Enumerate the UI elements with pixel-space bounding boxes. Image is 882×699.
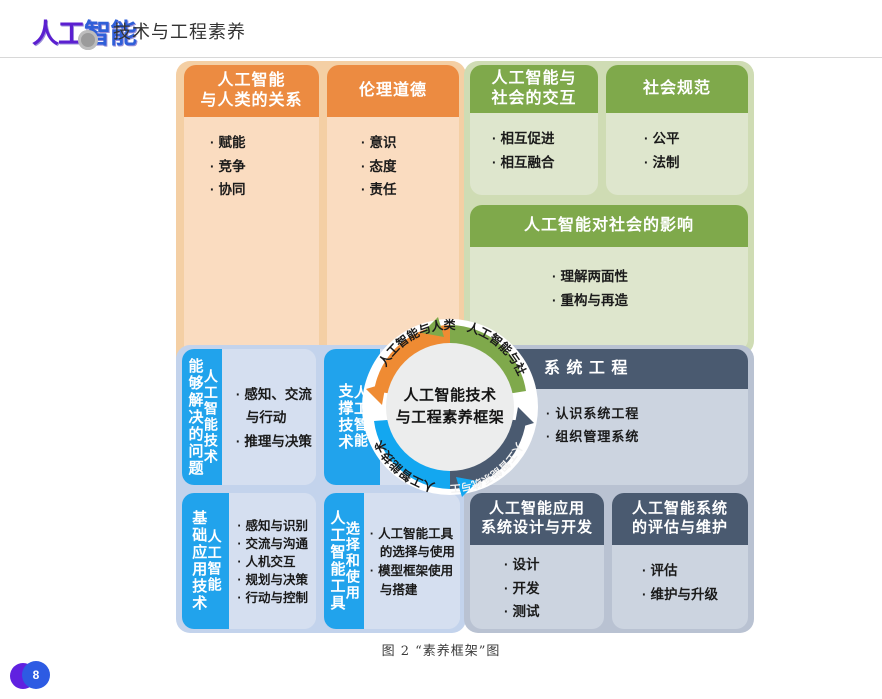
list-item: 态度	[361, 155, 447, 179]
list-item: 感知、交流	[236, 383, 312, 407]
page-title: 技术与工程素养	[113, 18, 246, 44]
list-item: 重构与再造	[552, 289, 736, 313]
page-badge-circle-front: 8	[22, 661, 50, 689]
brand-logo-part1: 人工	[32, 19, 84, 50]
list-item: 赋能	[210, 131, 307, 155]
card-body: 相互促进 相互融合	[470, 113, 598, 195]
card-ai-system-eval-maint[interactable]: 人工智能系统 的评估与维护 评估 维护与升级	[612, 493, 748, 629]
card-social-norms[interactable]: 社会规范 公平 法制	[606, 65, 748, 195]
card-side-label: 选择和使用 人工智能工具	[324, 493, 364, 629]
list-item: 竞争	[210, 155, 307, 179]
list-item: 维护与升级	[642, 583, 736, 607]
list-item: 组织管理系统	[546, 426, 736, 449]
card-side-label: 人工智能技术 能够解决的问题	[182, 349, 222, 485]
list-item-cont: 的选择与使用	[370, 543, 455, 562]
list-item: 理解两面性	[552, 265, 736, 289]
card-header: 人工智能 与人类的关系	[184, 65, 319, 117]
list-item: 公平	[644, 127, 736, 151]
list-item: 行动与控制	[237, 589, 308, 607]
list-item: 责任	[361, 178, 447, 202]
card-ai-tools-select-use[interactable]: 选择和使用 人工智能工具 人工智能工具 的选择与使用 模型框架使用 与搭建	[324, 493, 460, 629]
list-item: 协同	[210, 178, 307, 202]
list-item: 推理与决策	[236, 430, 312, 454]
gear-icon	[78, 30, 98, 50]
card-header: 人工智能与 社会的交互	[470, 65, 598, 113]
card-header: 伦理道德	[327, 65, 459, 117]
card-side-label: 人工智能 基础应用技术	[182, 493, 229, 629]
ring-center-label: 人工智能技术 与工程素养框架	[386, 343, 514, 471]
card-body: 评估 维护与升级	[612, 545, 748, 629]
list-item: 交流与沟通	[237, 535, 308, 553]
list-item: 人工智能工具	[370, 525, 455, 544]
list-item: 规划与决策	[237, 571, 308, 589]
card-body: 人工智能工具 的选择与使用 模型框架使用 与搭建	[364, 493, 460, 629]
card-header: 社会规范	[606, 65, 748, 113]
card-body: 公平 法制	[606, 113, 748, 195]
card-body: 感知与识别 交流与沟通 人机交互 规划与决策 行动与控制	[229, 493, 316, 629]
list-item: 设计	[504, 553, 592, 577]
card-body: 感知、交流 与行动 推理与决策	[222, 349, 316, 485]
list-item-cont: 与行动	[236, 406, 312, 430]
list-item: 模型框架使用	[370, 562, 455, 581]
card-header: 人工智能对社会的影响	[470, 205, 748, 247]
list-item: 测试	[504, 600, 592, 624]
page-header: 人工智能 技术与工程素养	[0, 0, 882, 58]
figure-caption: 图 2 “素养框架”图	[0, 640, 882, 659]
card-ai-app-system-design[interactable]: 人工智能应用 系统设计与开发 设计 开发 测试	[470, 493, 604, 629]
list-item: 认识系统工程	[546, 403, 736, 426]
card-body: 设计 开发 测试	[470, 545, 604, 629]
list-item: 感知与识别	[237, 517, 308, 535]
list-item: 人机交互	[237, 553, 308, 571]
card-ai-basic-app-tech[interactable]: 人工智能 基础应用技术 感知与识别 交流与沟通 人机交互 规划与决策 行动与控制	[182, 493, 316, 629]
card-ai-society-interaction[interactable]: 人工智能与 社会的交互 相互促进 相互融合	[470, 65, 598, 195]
list-item: 法制	[644, 151, 736, 175]
list-item: 评估	[642, 559, 736, 583]
center-ring: 人工智能与人类 人工智能与社会 人工智能系统与工程 人工智能技术 人工智能技术 …	[352, 309, 548, 505]
list-item: 开发	[504, 577, 592, 601]
list-item-cont: 与搭建	[370, 581, 455, 600]
list-item: 相互融合	[492, 151, 586, 175]
list-item: 相互促进	[492, 127, 586, 151]
list-item: 意识	[361, 131, 447, 155]
card-ai-tech-problems[interactable]: 人工智能技术 能够解决的问题 感知、交流 与行动 推理与决策	[182, 349, 316, 485]
competency-framework-diagram: 人工智能 与人类的关系 赋能 竞争 协同 伦理道德 意识 态度 责任 人工智能与…	[0, 57, 882, 637]
card-header: 人工智能系统 的评估与维护	[612, 493, 748, 545]
page-number-badge: 8	[8, 661, 68, 693]
